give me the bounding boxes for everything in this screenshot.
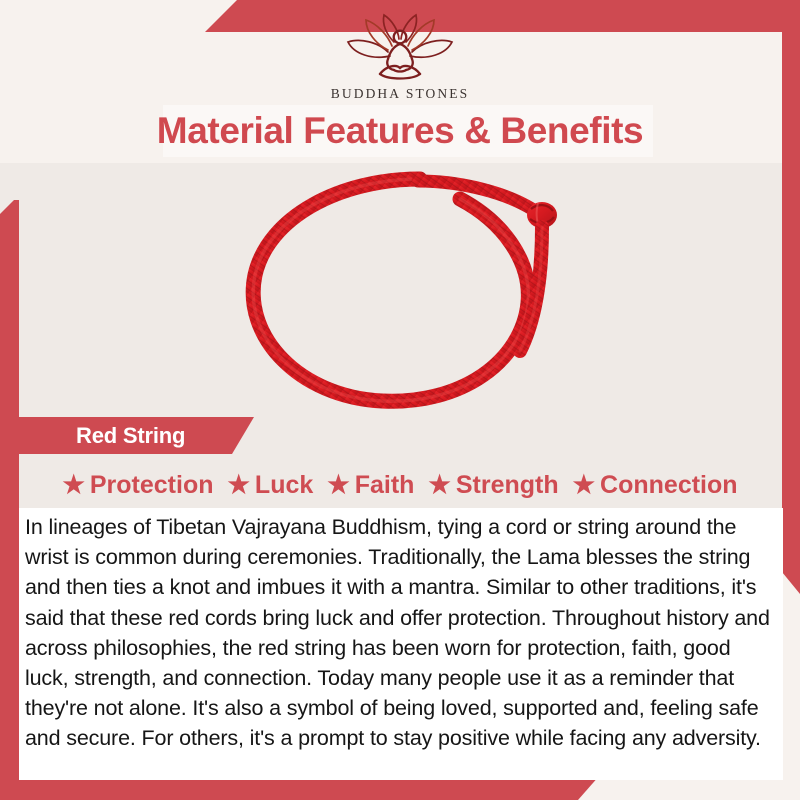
features-list: ★ Protection ★ Luck ★ Faith ★ Strength ★… — [19, 463, 781, 508]
red-braided-string-bracelet-icon — [150, 165, 650, 415]
star-icon: ★ — [428, 473, 450, 498]
page-title: Material Features & Benefits — [0, 101, 800, 161]
lotus-meditation-icon — [338, 12, 462, 84]
star-icon: ★ — [573, 473, 595, 498]
star-icon: ★ — [327, 473, 349, 498]
feature-faith: ★ Faith — [320, 471, 421, 500]
infographic-page: BUDDHA STONES Material Features & Benefi… — [0, 0, 800, 800]
star-icon: ★ — [228, 473, 250, 498]
product-name-banner: Red String — [19, 417, 254, 454]
feature-luck: ★ Luck — [221, 471, 321, 500]
feature-label: Luck — [255, 471, 313, 500]
feature-connection: ★ Connection — [566, 471, 745, 500]
left-red-strip — [0, 200, 19, 800]
feature-label: Strength — [456, 471, 559, 500]
feature-strength: ★ Strength — [421, 471, 565, 500]
product-name: Red String — [19, 417, 185, 454]
brand-logo: BUDDHA STONES — [0, 12, 800, 102]
star-icon: ★ — [62, 473, 84, 498]
product-image — [150, 165, 650, 415]
description-text: In lineages of Tibetan Vajrayana Buddhis… — [25, 512, 775, 754]
feature-label: Faith — [355, 471, 415, 500]
feature-label: Connection — [600, 471, 738, 500]
feature-protection: ★ Protection — [55, 471, 220, 500]
brand-name: BUDDHA STONES — [331, 86, 469, 102]
feature-label: Protection — [90, 471, 214, 500]
